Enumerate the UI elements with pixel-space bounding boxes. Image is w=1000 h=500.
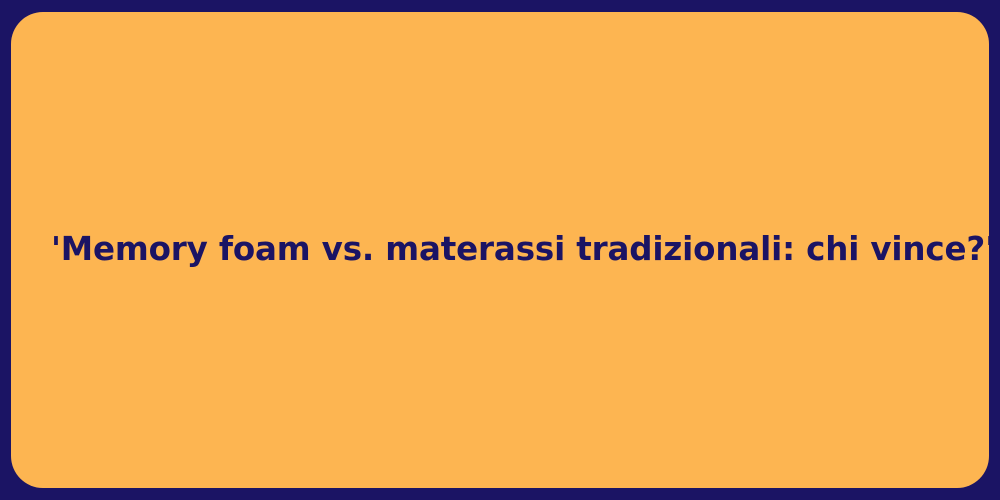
quote-card-frame: 'Memory foam vs. materassi tradizionali:… xyxy=(0,0,1000,500)
quote-card-panel: 'Memory foam vs. materassi tradizionali:… xyxy=(11,12,989,488)
quote-text: 'Memory foam vs. materassi tradizionali:… xyxy=(11,229,989,271)
